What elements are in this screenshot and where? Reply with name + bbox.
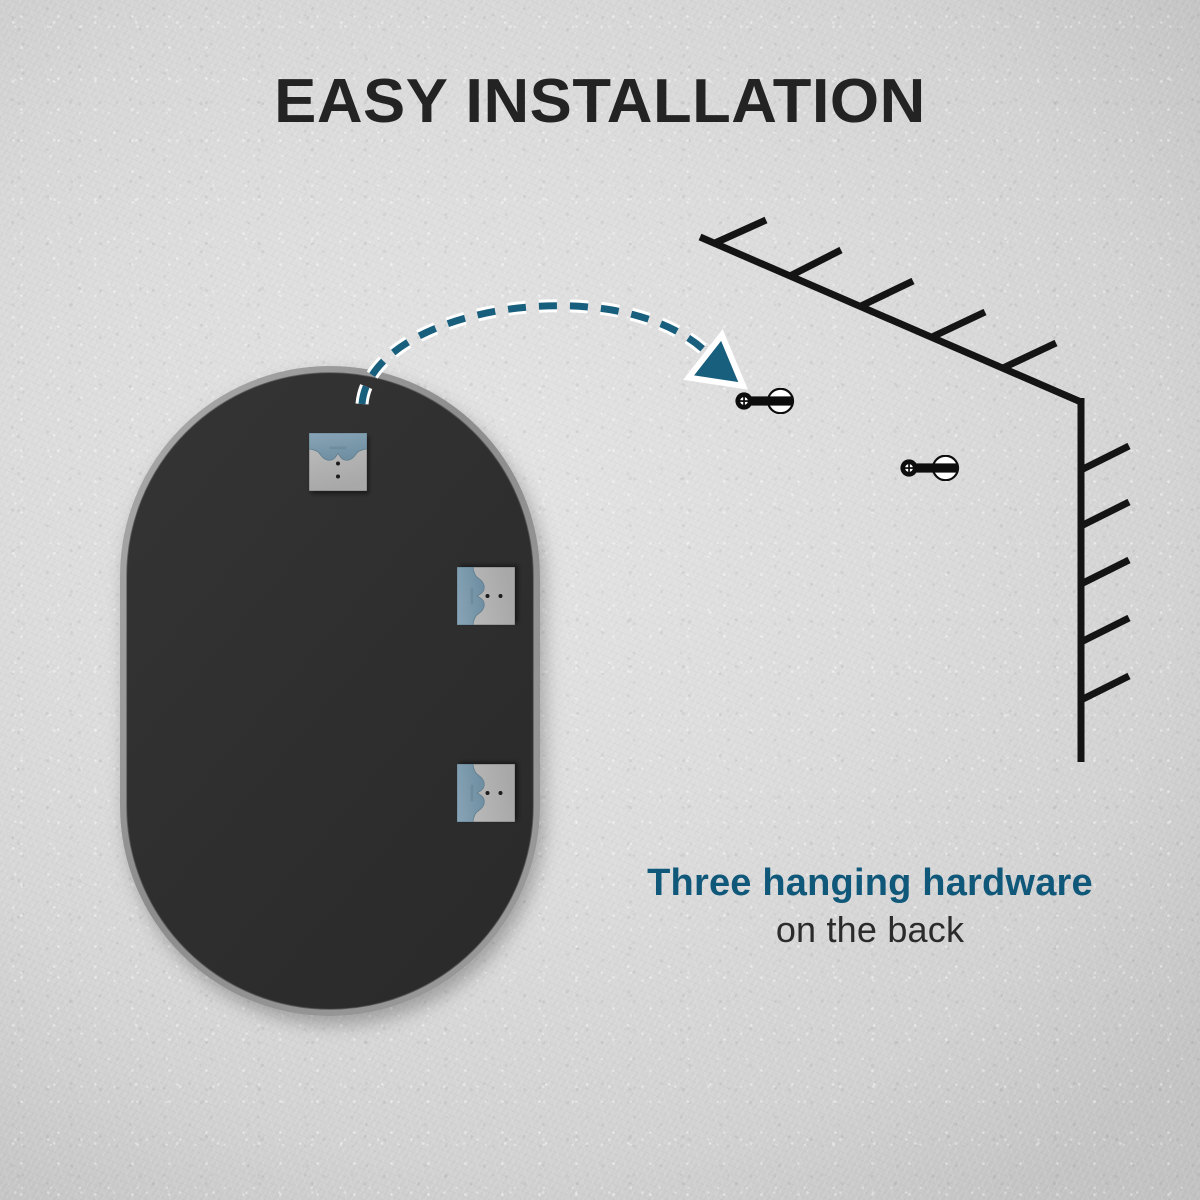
caption-line-1: Three hanging hardware: [560, 862, 1180, 905]
caption-line-2: on the back: [560, 909, 1180, 950]
arrow-layer: [0, 0, 1200, 1200]
mounting-arrow: [362, 306, 760, 407]
infographic-canvas: EASY INSTALLATION: [0, 0, 1200, 1200]
arrow-arc-outline: [362, 306, 712, 404]
caption-block: Three hanging hardware on the back: [560, 862, 1180, 950]
arrow-arc: [362, 306, 712, 404]
